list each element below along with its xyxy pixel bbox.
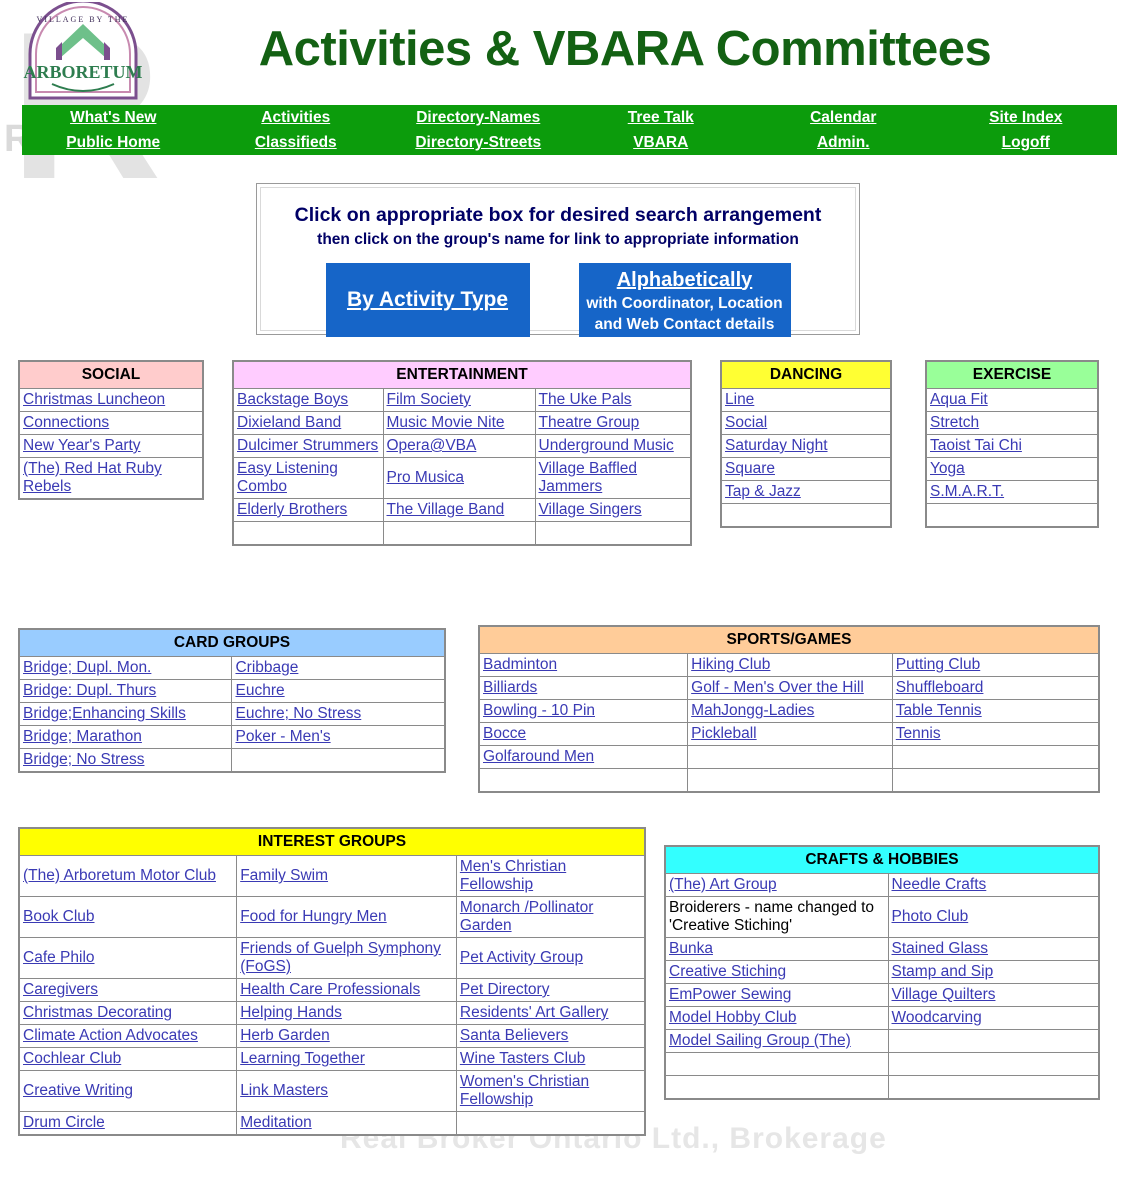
- table-cell: Film Society: [383, 389, 535, 412]
- group-link[interactable]: Climate Action Advocates: [23, 1027, 198, 1044]
- table-row: BoccePickleballTennis: [479, 723, 1099, 746]
- group-link[interactable]: Aqua Fit: [930, 391, 988, 408]
- table-row: Book ClubFood for Hungry MenMonarch /Pol…: [19, 897, 645, 938]
- table-header-title: CARD GROUPS: [19, 629, 445, 657]
- table-row: Aqua Fit: [926, 389, 1098, 412]
- group-link[interactable]: Yoga: [930, 460, 965, 477]
- table-cell: Shuffleboard: [892, 677, 1099, 700]
- group-link[interactable]: Line: [725, 391, 754, 408]
- table-row: CaregiversHealth Care ProfessionalsPet D…: [19, 979, 645, 1002]
- group-link[interactable]: Saturday Night: [725, 437, 828, 454]
- table-exercise: EXERCISEAqua FitStretchTaoist Tai ChiYog…: [925, 360, 1099, 528]
- table-row: Cafe PhiloFriends of Guelph Symphony (Fo…: [19, 938, 645, 979]
- table-cell-empty: [688, 746, 893, 769]
- table-cell-empty: [383, 522, 535, 546]
- group-link[interactable]: Connections: [23, 414, 109, 431]
- page-title: Activities & VBARA Committees: [150, 14, 1100, 84]
- table-cell: Creative Stiching: [665, 961, 888, 984]
- table-row: New Year's Party: [19, 435, 203, 458]
- table-cell: Bridge;Enhancing Skills: [19, 703, 232, 726]
- table-entertainment: ENTERTAINMENTBackstage BoysFilm SocietyT…: [232, 360, 692, 546]
- table-row: Tap & Jazz: [721, 481, 891, 504]
- group-link[interactable]: (The) Red Hat Ruby Rebels: [23, 460, 162, 495]
- group-link[interactable]: Women's Christian Fellowship: [460, 1073, 589, 1108]
- group-link[interactable]: Golf - Men's Over the Hill: [691, 679, 864, 696]
- group-link[interactable]: Theatre Group: [539, 414, 640, 431]
- group-link[interactable]: Monarch /Pollinator Garden: [460, 899, 594, 934]
- table-row: [479, 769, 1099, 793]
- table-cell: Easy Listening Combo: [233, 458, 383, 499]
- table-row: EmPower SewingVillage Quilters: [665, 984, 1099, 1007]
- table-cell: Bridge; Marathon: [19, 726, 232, 749]
- nav-column-3: Directory-Names Directory-Streets: [387, 105, 570, 155]
- table-cell: Christmas Luncheon: [19, 389, 203, 412]
- group-link[interactable]: Christmas Luncheon: [23, 391, 165, 408]
- table-social: SOCIALChristmas LuncheonConnectionsNew Y…: [18, 360, 204, 500]
- group-link[interactable]: Opera@VBA: [387, 437, 477, 454]
- group-link[interactable]: Cribbage: [235, 659, 298, 676]
- table-cell: Stretch: [926, 412, 1098, 435]
- table-row: Bridge; MarathonPoker - Men's: [19, 726, 445, 749]
- table-interest-groups: INTEREST GROUPS(The) Arboretum Motor Clu…: [18, 827, 646, 1136]
- group-link[interactable]: Food for Hungry Men: [240, 908, 386, 925]
- table-cell: Connections: [19, 412, 203, 435]
- nav-link-calendar[interactable]: Calendar: [810, 105, 876, 130]
- group-link[interactable]: Hiking Club: [691, 656, 770, 673]
- table-cell: Needle Crafts: [888, 874, 1099, 897]
- table-row: Broiderers - name changed to 'Creative S…: [665, 897, 1099, 938]
- table-cell: (The) Red Hat Ruby Rebels: [19, 458, 203, 500]
- table-cell: Dulcimer Strummers: [233, 435, 383, 458]
- table-header-title: CRAFTS & HOBBIES: [665, 846, 1099, 874]
- group-link[interactable]: Christmas Decorating: [23, 1004, 172, 1021]
- table-cell: Hiking Club: [688, 654, 893, 677]
- group-link[interactable]: Pro Musica: [387, 469, 465, 486]
- table-row: [665, 1076, 1099, 1100]
- nav-link-admin[interactable]: Admin.: [817, 130, 870, 155]
- group-link[interactable]: Dulcimer Strummers: [237, 437, 378, 454]
- group-note: Broiderers - name changed to 'Creative S…: [669, 899, 874, 934]
- group-link[interactable]: Model Hobby Club: [669, 1009, 797, 1026]
- table-cell: Drum Circle: [19, 1112, 237, 1136]
- table-cell: Theatre Group: [535, 412, 691, 435]
- table-header-title: ENTERTAINMENT: [233, 361, 691, 389]
- search-instruction-inner: Click on appropriate box for desired sea…: [260, 187, 856, 331]
- group-link[interactable]: Residents' Art Gallery: [460, 1004, 609, 1021]
- group-link[interactable]: Herb Garden: [240, 1027, 330, 1044]
- table-header-title: EXERCISE: [926, 361, 1098, 389]
- table-cell: Women's Christian Fellowship: [456, 1071, 645, 1112]
- table-cell: Link Masters: [237, 1071, 457, 1112]
- table-cell: Euchre; No Stress: [232, 703, 445, 726]
- nav-link-logoff[interactable]: Logoff: [1002, 130, 1050, 155]
- table-cell: Friends of Guelph Symphony (FoGS): [237, 938, 457, 979]
- table-header-title: DANCING: [721, 361, 891, 389]
- table-cell-empty: [535, 522, 691, 546]
- table-cell: Village Quilters: [888, 984, 1099, 1007]
- table-cell: Family Swim: [237, 856, 457, 897]
- table-cell: Golfaround Men: [479, 746, 688, 769]
- table-cell: EmPower Sewing: [665, 984, 888, 1007]
- table-cell: Bridge; Dupl. Mon.: [19, 657, 232, 680]
- table-header-title: SPORTS/GAMES: [479, 626, 1099, 654]
- group-link[interactable]: EmPower Sewing: [669, 986, 791, 1003]
- table-cell-empty: [665, 1053, 888, 1076]
- table-cell: Cribbage: [232, 657, 445, 680]
- table-row: Creative StichingStamp and Sip: [665, 961, 1099, 984]
- table-cell: The Village Band: [383, 499, 535, 522]
- table-cell: Tennis: [892, 723, 1099, 746]
- table-dancing: DANCINGLineSocialSaturday NightSquareTap…: [720, 360, 892, 528]
- table-row: Model Hobby ClubWoodcarving: [665, 1007, 1099, 1030]
- table-cell: Food for Hungry Men: [237, 897, 457, 938]
- table-row: Creative WritingLink MastersWomen's Chri…: [19, 1071, 645, 1112]
- group-link[interactable]: Men's Christian Fellowship: [460, 858, 566, 893]
- table-cell: Model Hobby Club: [665, 1007, 888, 1030]
- table-row: Dixieland BandMusic Movie NiteTheatre Gr…: [233, 412, 691, 435]
- table-cell: Bunka: [665, 938, 888, 961]
- nav-column-1: What's New Public Home: [22, 105, 205, 155]
- group-link[interactable]: Friends of Guelph Symphony (FoGS): [240, 940, 441, 975]
- alphabetically-sub-2: and Web Contact details: [595, 314, 775, 335]
- table-card-groups: CARD GROUPSBridge; Dupl. Mon.CribbageBri…: [18, 628, 446, 773]
- group-link[interactable]: Elderly Brothers: [237, 501, 347, 518]
- table-row: Taoist Tai Chi: [926, 435, 1098, 458]
- table-row: BilliardsGolf - Men's Over the HillShuff…: [479, 677, 1099, 700]
- group-link[interactable]: Shuffleboard: [896, 679, 984, 696]
- table-cell: Taoist Tai Chi: [926, 435, 1098, 458]
- table-cell: Monarch /Pollinator Garden: [456, 897, 645, 938]
- group-link[interactable]: Stamp and Sip: [892, 963, 994, 980]
- table-row: [926, 504, 1098, 528]
- table-cell: Backstage Boys: [233, 389, 383, 412]
- group-link[interactable]: Social: [725, 414, 767, 431]
- group-link[interactable]: Book Club: [23, 908, 95, 925]
- table-cell-empty: [888, 1076, 1099, 1100]
- table-row: (The) Red Hat Ruby Rebels: [19, 458, 203, 500]
- nav-link-classifieds[interactable]: Classifieds: [255, 130, 337, 155]
- nav-link-directory-streets[interactable]: Directory-Streets: [415, 130, 541, 155]
- table-cell: Meditation: [237, 1112, 457, 1136]
- table-cell: Table Tennis: [892, 700, 1099, 723]
- table-cell: Social: [721, 412, 891, 435]
- group-link[interactable]: Drum Circle: [23, 1114, 105, 1131]
- table-cell: Billiards: [479, 677, 688, 700]
- arboretum-logo-icon: VILLAGE BY THE ARBORETUM: [22, 2, 144, 102]
- table-cell: Climate Action Advocates: [19, 1025, 237, 1048]
- group-link[interactable]: Billiards: [483, 679, 537, 696]
- nav-link-site-index[interactable]: Site Index: [989, 105, 1062, 130]
- table-cell: Pro Musica: [383, 458, 535, 499]
- table-cell: Putting Club: [892, 654, 1099, 677]
- table-cell: Line: [721, 389, 891, 412]
- nav-link-directory-names[interactable]: Directory-Names: [416, 105, 540, 130]
- group-link[interactable]: Caregivers: [23, 981, 98, 998]
- group-link[interactable]: Easy Listening Combo: [237, 460, 338, 495]
- group-link[interactable]: (The) Arboretum Motor Club: [23, 867, 216, 884]
- table-cell: Stamp and Sip: [888, 961, 1099, 984]
- group-link[interactable]: Euchre; No Stress: [235, 705, 361, 722]
- table-cell: Saturday Night: [721, 435, 891, 458]
- group-link[interactable]: Link Masters: [240, 1082, 328, 1099]
- group-link[interactable]: Bowling - 10 Pin: [483, 702, 595, 719]
- table-row: Connections: [19, 412, 203, 435]
- table-row: Bridge: Dupl. ThursEuchre: [19, 680, 445, 703]
- group-link[interactable]: Bridge; Dupl. Mon.: [23, 659, 151, 676]
- table-cell: Caregivers: [19, 979, 237, 1002]
- table-cell: Golf - Men's Over the Hill: [688, 677, 893, 700]
- table-cell-empty: [665, 1076, 888, 1100]
- table-row: [665, 1053, 1099, 1076]
- group-link[interactable]: Photo Club: [892, 908, 969, 925]
- group-link[interactable]: Taoist Tai Chi: [930, 437, 1022, 454]
- table-cell: Woodcarving: [888, 1007, 1099, 1030]
- group-link[interactable]: Cafe Philo: [23, 949, 95, 966]
- table-cell: Bridge: Dupl. Thurs: [19, 680, 232, 703]
- table-cell-empty: [721, 504, 891, 528]
- group-link[interactable]: Creative Stiching: [669, 963, 786, 980]
- group-link[interactable]: Bocce: [483, 725, 526, 742]
- nav-column-2: Activities Classifieds: [205, 105, 388, 155]
- group-link[interactable]: Poker - Men's: [235, 728, 330, 745]
- table-cell: Pickleball: [688, 723, 893, 746]
- group-link[interactable]: The Village Band: [387, 501, 505, 518]
- table-row: Model Sailing Group (The): [665, 1030, 1099, 1053]
- table-row: Line: [721, 389, 891, 412]
- table-cell-empty: [888, 1053, 1099, 1076]
- group-link[interactable]: Bridge: Dupl. Thurs: [23, 682, 156, 699]
- table-cell: New Year's Party: [19, 435, 203, 458]
- table-row: Bridge;Enhancing SkillsEuchre; No Stress: [19, 703, 445, 726]
- table-row: (The) Arboretum Motor ClubFamily SwimMen…: [19, 856, 645, 897]
- alphabetically-title: Alphabetically: [617, 268, 753, 293]
- table-cell: Pet Directory: [456, 979, 645, 1002]
- nav-link-whats-new[interactable]: What's New: [70, 105, 156, 130]
- table-row: Social: [721, 412, 891, 435]
- group-link[interactable]: Stained Glass: [892, 940, 989, 957]
- nav-column-5: Calendar Admin.: [752, 105, 935, 155]
- group-link[interactable]: Cochlear Club: [23, 1050, 121, 1067]
- svg-text:VILLAGE BY THE: VILLAGE BY THE: [37, 15, 130, 24]
- by-activity-type-button[interactable]: By Activity Type: [326, 263, 530, 337]
- table-cell: (The) Art Group: [665, 874, 888, 897]
- table-cell-empty: [456, 1112, 645, 1136]
- table-row: BadmintonHiking ClubPutting Club: [479, 654, 1099, 677]
- page-header: VILLAGE BY THE ARBORETUM Activities & VB…: [0, 0, 1139, 100]
- group-link[interactable]: Pickleball: [691, 725, 756, 742]
- group-link[interactable]: Needle Crafts: [892, 876, 987, 893]
- group-link[interactable]: Table Tennis: [896, 702, 982, 719]
- table-cell: Helping Hands: [237, 1002, 457, 1025]
- group-link[interactable]: Creative Writing: [23, 1082, 133, 1099]
- nav-column-4: Tree Talk VBARA: [570, 105, 753, 155]
- table-cell-empty: [892, 769, 1099, 793]
- table-cell-empty: [888, 1030, 1099, 1053]
- table-row: Drum CircleMeditation: [19, 1112, 645, 1136]
- group-link[interactable]: Meditation: [240, 1114, 312, 1131]
- group-link[interactable]: (The) Art Group: [669, 876, 777, 893]
- table-cell: Music Movie Nite: [383, 412, 535, 435]
- group-link[interactable]: Golfaround Men: [483, 748, 594, 765]
- table-cell: Bridge; No Stress: [19, 749, 232, 773]
- table-row: Bridge; Dupl. Mon.Cribbage: [19, 657, 445, 680]
- table-cell: Creative Writing: [19, 1071, 237, 1112]
- table-cell: Health Care Professionals: [237, 979, 457, 1002]
- table-row: S.M.A.R.T.: [926, 481, 1098, 504]
- group-link[interactable]: Film Society: [387, 391, 471, 408]
- group-link[interactable]: Bridge;Enhancing Skills: [23, 705, 186, 722]
- table-cell: Men's Christian Fellowship: [456, 856, 645, 897]
- group-link[interactable]: Underground Music: [539, 437, 674, 454]
- group-link[interactable]: Family Swim: [240, 867, 328, 884]
- table-header-title: INTEREST GROUPS: [19, 828, 645, 856]
- table-cell: Santa Believers: [456, 1025, 645, 1048]
- table-cell-empty: [232, 749, 445, 773]
- group-link[interactable]: Health Care Professionals: [240, 981, 420, 998]
- table-cell: Opera@VBA: [383, 435, 535, 458]
- table-cell: Elderly Brothers: [233, 499, 383, 522]
- search-instruction-line-1: Click on appropriate box for desired sea…: [261, 204, 855, 227]
- table-cell: Poker - Men's: [232, 726, 445, 749]
- svg-text:ARBORETUM: ARBORETUM: [23, 62, 142, 82]
- group-link[interactable]: MahJongg-Ladies: [691, 702, 814, 719]
- by-activity-type-label: By Activity Type: [347, 288, 508, 312]
- group-link[interactable]: Helping Hands: [240, 1004, 342, 1021]
- group-link[interactable]: Bridge; Marathon: [23, 728, 142, 745]
- table-cell: Residents' Art Gallery: [456, 1002, 645, 1025]
- table-row: Saturday Night: [721, 435, 891, 458]
- table-row: Bowling - 10 PinMahJongg-LadiesTable Ten…: [479, 700, 1099, 723]
- table-row: Golfaround Men: [479, 746, 1099, 769]
- group-link[interactable]: Dixieland Band: [237, 414, 341, 431]
- nav-link-public-home[interactable]: Public Home: [66, 130, 160, 155]
- group-link[interactable]: Pet Directory: [460, 981, 550, 998]
- table-row: Backstage BoysFilm SocietyThe Uke Pals: [233, 389, 691, 412]
- group-link[interactable]: Pet Activity Group: [460, 949, 583, 966]
- group-link[interactable]: S.M.A.R.T.: [930, 483, 1004, 500]
- search-instruction-line-2: then click on the group's name for link …: [261, 231, 855, 249]
- group-link[interactable]: Village Quilters: [892, 986, 996, 1003]
- table-row: Dulcimer StrummersOpera@VBAUnderground M…: [233, 435, 691, 458]
- table-cell: Bowling - 10 Pin: [479, 700, 688, 723]
- nav-link-vbara[interactable]: VBARA: [633, 130, 688, 155]
- table-row: Christmas Luncheon: [19, 389, 203, 412]
- group-link[interactable]: Wine Tasters Club: [460, 1050, 585, 1067]
- group-link[interactable]: Village Baffled Jammers: [539, 460, 638, 495]
- nav-column-6: Site Index Logoff: [935, 105, 1118, 155]
- table-cell: (The) Arboretum Motor Club: [19, 856, 237, 897]
- table-row: Easy Listening ComboPro MusicaVillage Ba…: [233, 458, 691, 499]
- table-cell: Model Sailing Group (The): [665, 1030, 888, 1053]
- group-link[interactable]: The Uke Pals: [539, 391, 632, 408]
- group-link[interactable]: Village Singers: [539, 501, 642, 518]
- table-cell-empty: [688, 769, 893, 793]
- table-cell: Book Club: [19, 897, 237, 938]
- table-cell: Photo Club: [888, 897, 1099, 938]
- search-mode-buttons: By Activity Type Alphabetically with Coo…: [261, 263, 855, 337]
- table-row: BunkaStained Glass: [665, 938, 1099, 961]
- table-row: [233, 522, 691, 546]
- group-link[interactable]: Woodcarving: [892, 1009, 982, 1026]
- table-cell: Aqua Fit: [926, 389, 1098, 412]
- group-link[interactable]: Santa Believers: [460, 1027, 569, 1044]
- table-row: Elderly BrothersThe Village BandVillage …: [233, 499, 691, 522]
- group-link[interactable]: Badminton: [483, 656, 557, 673]
- table-cell: Stained Glass: [888, 938, 1099, 961]
- table-sports-games: SPORTS/GAMESBadmintonHiking ClubPutting …: [478, 625, 1100, 793]
- table-cell: Herb Garden: [237, 1025, 457, 1048]
- table-row: Yoga: [926, 458, 1098, 481]
- table-cell: Square: [721, 458, 891, 481]
- group-link[interactable]: Stretch: [930, 414, 979, 431]
- table-cell: Euchre: [232, 680, 445, 703]
- table-cell: S.M.A.R.T.: [926, 481, 1098, 504]
- table-row: Christmas DecoratingHelping HandsResiden…: [19, 1002, 645, 1025]
- table-cell: Village Baffled Jammers: [535, 458, 691, 499]
- nav-link-activities[interactable]: Activities: [261, 105, 330, 130]
- table-cell: The Uke Pals: [535, 389, 691, 412]
- table-cell: Village Singers: [535, 499, 691, 522]
- table-cell: Bocce: [479, 723, 688, 746]
- search-instruction-panel: Click on appropriate box for desired sea…: [256, 183, 860, 335]
- table-cell: Dixieland Band: [233, 412, 383, 435]
- table-row: Stretch: [926, 412, 1098, 435]
- group-link[interactable]: Backstage Boys: [237, 391, 348, 408]
- table-cell: Tap & Jazz: [721, 481, 891, 504]
- table-header-title: SOCIAL: [19, 361, 203, 389]
- table-row: Square: [721, 458, 891, 481]
- group-link[interactable]: Euchre: [235, 682, 284, 699]
- group-link[interactable]: Bridge; No Stress: [23, 751, 144, 768]
- table-row: Climate Action AdvocatesHerb GardenSanta…: [19, 1025, 645, 1048]
- alphabetically-sub-1: with Coordinator, Location: [586, 293, 782, 314]
- main-navigation: What's New Public Home Activities Classi…: [22, 105, 1117, 155]
- nav-link-tree-talk[interactable]: Tree Talk: [628, 105, 694, 130]
- table-cell: Christmas Decorating: [19, 1002, 237, 1025]
- group-link[interactable]: Learning Together: [240, 1050, 365, 1067]
- group-link[interactable]: Bunka: [669, 940, 713, 957]
- table-row: Cochlear ClubLearning TogetherWine Taste…: [19, 1048, 645, 1071]
- table-cell-empty: [892, 746, 1099, 769]
- table-row: Bridge; No Stress: [19, 749, 445, 773]
- table-cell-empty: [926, 504, 1098, 528]
- table-cell: Underground Music: [535, 435, 691, 458]
- table-cell: Pet Activity Group: [456, 938, 645, 979]
- table-cell: Yoga: [926, 458, 1098, 481]
- table-cell: Cafe Philo: [19, 938, 237, 979]
- table-row: [721, 504, 891, 528]
- group-link[interactable]: Model Sailing Group (The): [669, 1032, 851, 1049]
- table-row: (The) Art GroupNeedle Crafts: [665, 874, 1099, 897]
- group-link[interactable]: Music Movie Nite: [387, 414, 505, 431]
- group-link[interactable]: Putting Club: [896, 656, 980, 673]
- table-cell: MahJongg-Ladies: [688, 700, 893, 723]
- group-link[interactable]: Tennis: [896, 725, 941, 742]
- group-link[interactable]: Tap & Jazz: [725, 483, 801, 500]
- alphabetically-button[interactable]: Alphabetically with Coordinator, Locatio…: [579, 263, 791, 337]
- table-cell: Badminton: [479, 654, 688, 677]
- table-crafts-hobbies: CRAFTS & HOBBIES(The) Art GroupNeedle Cr…: [664, 845, 1100, 1100]
- table-cell: Learning Together: [237, 1048, 457, 1071]
- table-cell-empty: [479, 769, 688, 793]
- table-cell: Wine Tasters Club: [456, 1048, 645, 1071]
- table-cell: Cochlear Club: [19, 1048, 237, 1071]
- group-link[interactable]: New Year's Party: [23, 437, 141, 454]
- table-cell-empty: [233, 522, 383, 546]
- table-cell: Broiderers - name changed to 'Creative S…: [665, 897, 888, 938]
- group-link[interactable]: Square: [725, 460, 775, 477]
